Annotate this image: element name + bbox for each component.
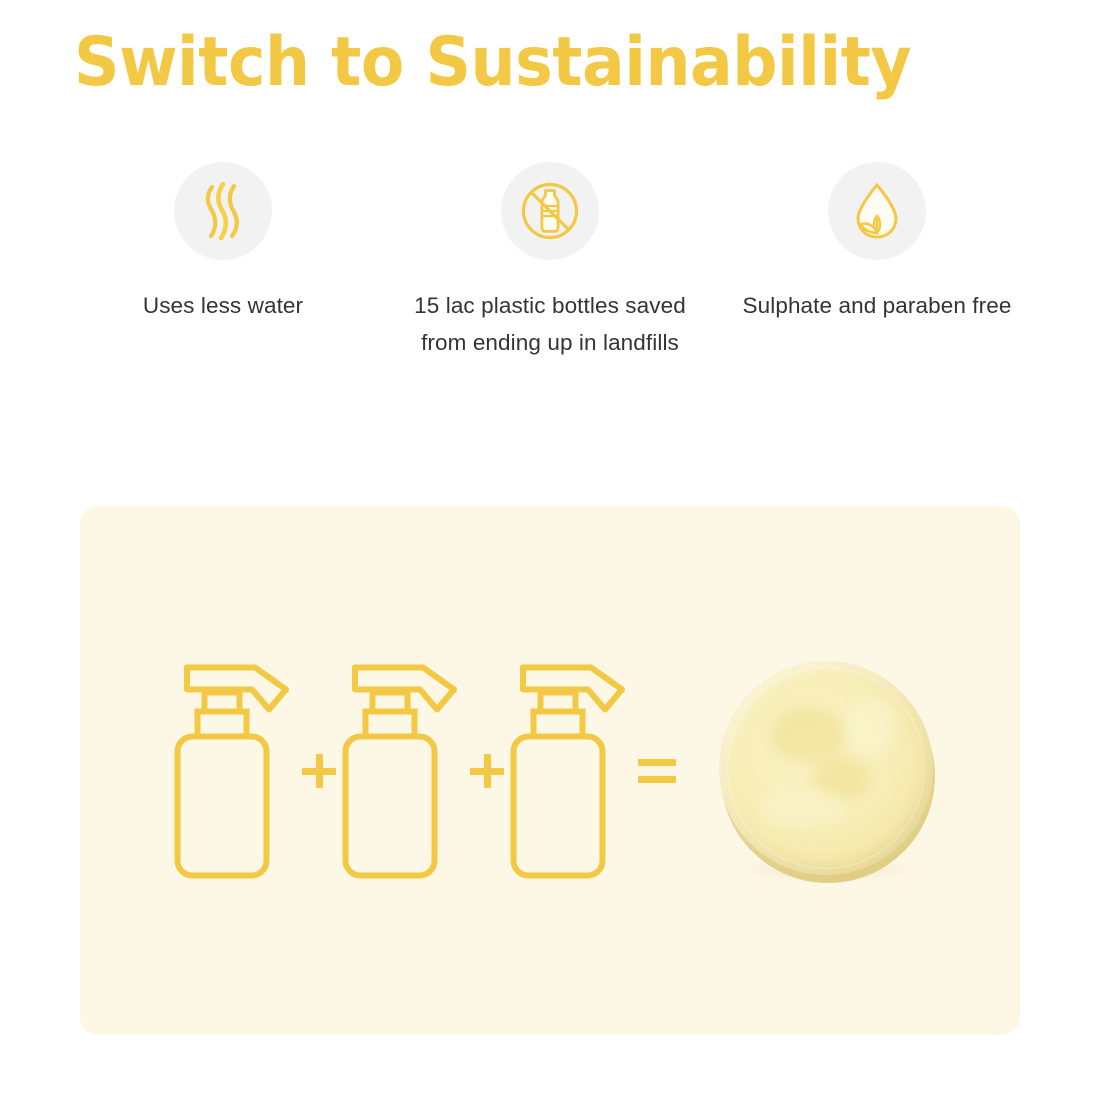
feature-caption: Uses less water — [143, 288, 303, 325]
plus-icon — [459, 754, 515, 788]
no-plastic-bottle-icon — [519, 180, 581, 242]
feature-icon-badge — [174, 162, 272, 260]
soap-bar-image — [717, 655, 939, 887]
equation-row — [80, 506, 1020, 1035]
feature-icon-badge — [828, 162, 926, 260]
feature-item-plastic-bottles-saved: 15 lac plastic bottles saved from ending… — [387, 162, 713, 361]
feature-icon-badge — [501, 162, 599, 260]
equals-icon — [629, 759, 685, 783]
plus-icon — [291, 754, 347, 788]
pump-bottle-icon — [341, 662, 465, 880]
pump-bottle-icon — [173, 662, 297, 880]
equation-panel — [80, 506, 1020, 1035]
soap-bar-highlight — [727, 667, 925, 869]
feature-item-sulphate-paraben-free: Sulphate and paraben free — [714, 162, 1040, 325]
sustainability-infographic: Switch to Sustainability Uses less water — [0, 0, 1100, 1100]
feature-caption: Sulphate and paraben free — [743, 288, 1012, 325]
feature-list: Uses less water — [60, 162, 1040, 361]
page-title: Switch to Sustainability — [74, 20, 911, 106]
pump-bottle-icon — [509, 662, 633, 880]
leaf-droplet-icon — [848, 180, 906, 242]
water-waves-icon — [196, 180, 250, 242]
feature-item-uses-less-water: Uses less water — [60, 162, 386, 325]
feature-caption: 15 lac plastic bottles saved from ending… — [400, 288, 700, 361]
